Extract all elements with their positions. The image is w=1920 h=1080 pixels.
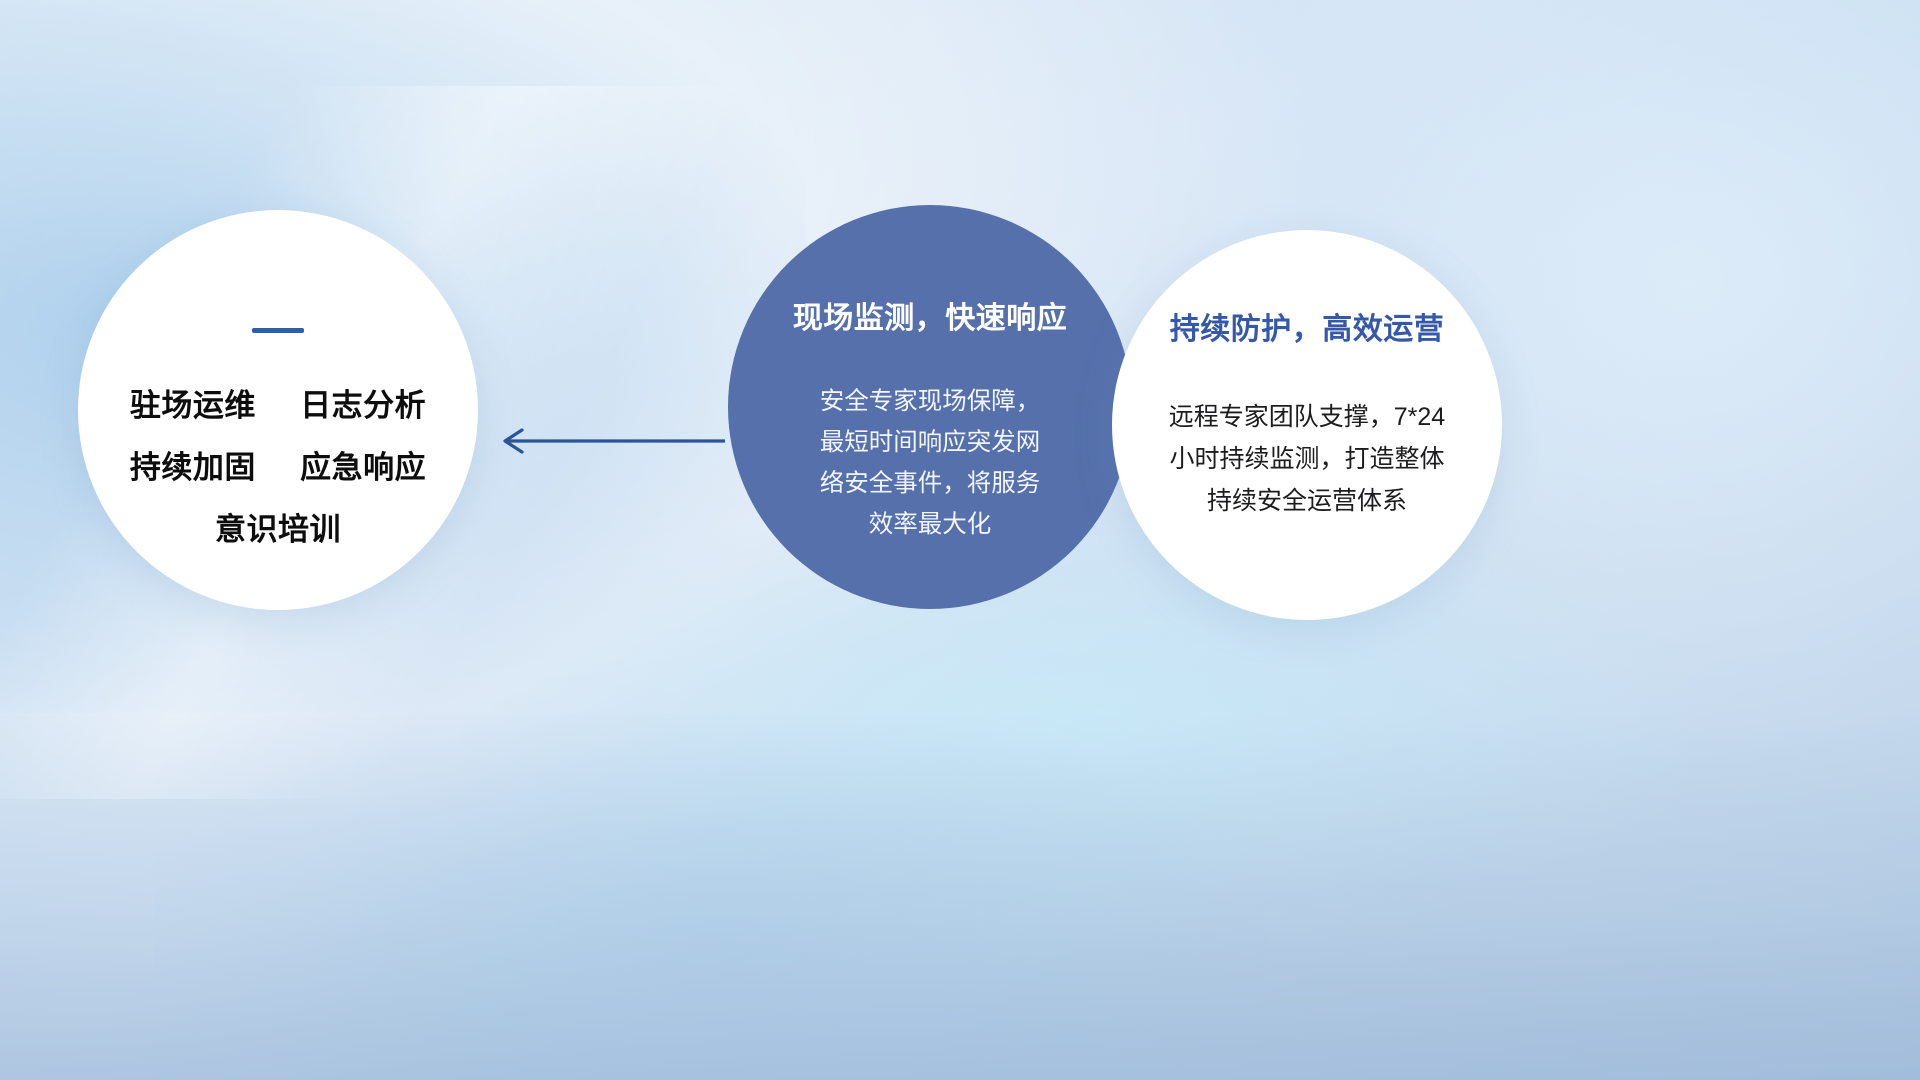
body-line: 效率最大化 (795, 504, 1065, 545)
onsite-monitoring-body: 安全专家现场保障， 最短时间响应突发网 络安全事件，将服务 效率最大化 (795, 381, 1065, 545)
continuous-protection-circle: 持续防护，高效运营 远程专家团队支撑，7*24 小时持续监测，打造整体 持续安全… (1112, 230, 1502, 620)
continuous-protection-body: 远程专家团队支撑，7*24 小时持续监测，打造整体 持续安全运营体系 (1147, 396, 1467, 522)
body-line: 络安全事件，将服务 (795, 463, 1065, 504)
continuous-protection-heading: 持续防护，高效运营 (1170, 304, 1445, 348)
capability-label: 持续加固 (130, 450, 256, 485)
body-line: 小时持续监测，打造整体 (1147, 438, 1467, 480)
background-bottom-shade (0, 713, 1920, 1080)
heading-divider-icon (252, 328, 304, 333)
capability-list: 驻场运维 日志分析 持续加固 应急响应 意识培训 (130, 375, 426, 561)
capability-label: 意识培训 (215, 512, 341, 547)
capability-label: 应急响应 (300, 450, 426, 485)
onsite-monitoring-circle: 现场监测，快速响应 安全专家现场保障， 最短时间响应突发网 络安全事件，将服务 … (728, 205, 1132, 609)
capability-label: 驻场运维 (130, 388, 256, 423)
body-line: 远程专家团队支撑，7*24 (1147, 396, 1467, 438)
list-item: 持续加固 应急响应 (130, 437, 426, 499)
list-item: 驻场运维 日志分析 (130, 375, 426, 437)
body-line: 最短时间响应突发网 (795, 422, 1065, 463)
body-line: 持续安全运营体系 (1147, 480, 1467, 522)
onsite-monitoring-heading: 现场监测，快速响应 (793, 293, 1068, 337)
arrow-left-icon (497, 418, 727, 464)
capability-label: 日志分析 (300, 388, 426, 423)
left-capability-circle: 驻场运维 日志分析 持续加固 应急响应 意识培训 (78, 210, 478, 610)
body-line: 安全专家现场保障， (795, 381, 1065, 422)
list-item: 意识培训 (130, 499, 426, 561)
